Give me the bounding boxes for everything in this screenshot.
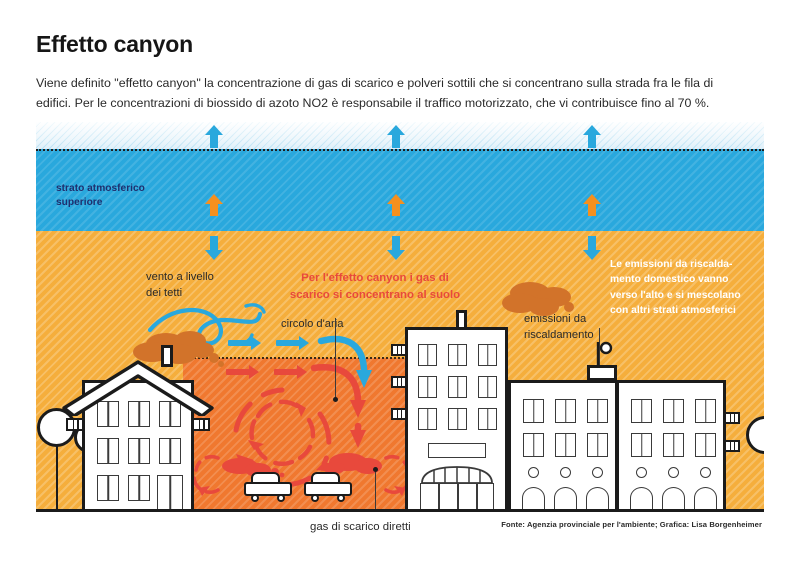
side-window [724, 412, 740, 424]
blue-hatch-pattern [36, 149, 764, 231]
leader-line-air-circle [335, 318, 336, 400]
source-credit: Fonte: Agenzia provinciale per l'ambient… [501, 520, 762, 529]
window [418, 408, 437, 430]
window [555, 399, 576, 423]
side-window [391, 376, 407, 388]
window [97, 475, 119, 501]
car-wheel [277, 494, 285, 502]
window [523, 399, 544, 423]
illustration-scene: strato atmosferico superiore vento a liv… [36, 122, 764, 512]
side-window [724, 440, 740, 452]
shop-awning [420, 466, 494, 484]
antenna-icon [590, 340, 616, 368]
car-wheel [251, 494, 259, 502]
window [587, 433, 608, 457]
tree-trunk-1 [56, 444, 58, 510]
round-window [592, 467, 603, 478]
shop-mullion [438, 483, 440, 510]
window [97, 438, 119, 464]
round-window [700, 467, 711, 478]
canyon-effect-label: Per l'effetto canyon i gas di scarico si… [260, 270, 490, 304]
window [448, 344, 467, 366]
window [128, 475, 150, 501]
shop-mullion [476, 483, 478, 510]
window [418, 344, 437, 366]
intro-paragraph: Viene definito "effetto canyon" la conce… [36, 73, 748, 113]
window [695, 433, 716, 457]
heating-note-label: Le emissioni da riscalda- mento domestic… [610, 257, 764, 319]
band-divider-top [36, 149, 764, 151]
car-body [244, 482, 292, 496]
building-right-a [508, 380, 618, 510]
side-window [391, 344, 407, 356]
chimney-mid-building [456, 310, 467, 330]
window [418, 376, 437, 398]
window [128, 438, 150, 464]
direct-exhaust-caption: gas di scarico diretti [310, 521, 411, 533]
roof-wind-label: vento a livello dei tetti [146, 270, 214, 301]
leader-dot-air-circle [333, 397, 338, 402]
upper-layer-label: strato atmosferico superiore [56, 182, 145, 210]
car-wheel [311, 494, 319, 502]
window [631, 433, 652, 457]
door [157, 475, 183, 512]
window [555, 433, 576, 457]
car-left [244, 470, 292, 502]
leader-line-direct-exhaust [375, 470, 376, 512]
ground-line [36, 509, 764, 512]
side-window [391, 408, 407, 420]
leader-dot-direct-exhaust [373, 467, 378, 472]
window [631, 399, 652, 423]
window [663, 433, 684, 457]
side-window-left [66, 418, 84, 431]
car-wheel [337, 494, 345, 502]
side-window-right [192, 418, 210, 431]
car-body [304, 482, 352, 496]
car-right [304, 470, 352, 502]
window [159, 438, 181, 464]
roof-left-house [62, 360, 214, 416]
page-title: Effetto canyon [36, 32, 766, 57]
infographic-canvas: Effetto canyon Viene definito "effetto c… [0, 0, 800, 565]
window [448, 408, 467, 430]
window [587, 399, 608, 423]
shop-sign-band [428, 443, 486, 458]
window [478, 376, 497, 398]
window [448, 376, 467, 398]
round-window [636, 467, 647, 478]
building-right-b [616, 380, 726, 510]
header: Effetto canyon Viene definito "effetto c… [36, 32, 766, 113]
round-window [560, 467, 571, 478]
building-mid-tall [405, 327, 508, 510]
window [523, 433, 544, 457]
window [695, 399, 716, 423]
shop-mullion [457, 483, 459, 510]
window [478, 344, 497, 366]
round-window [528, 467, 539, 478]
window [478, 408, 497, 430]
smoke-cloud-right-icon [500, 279, 590, 323]
window [663, 399, 684, 423]
round-window [668, 467, 679, 478]
upper-atmosphere-band [36, 149, 764, 231]
